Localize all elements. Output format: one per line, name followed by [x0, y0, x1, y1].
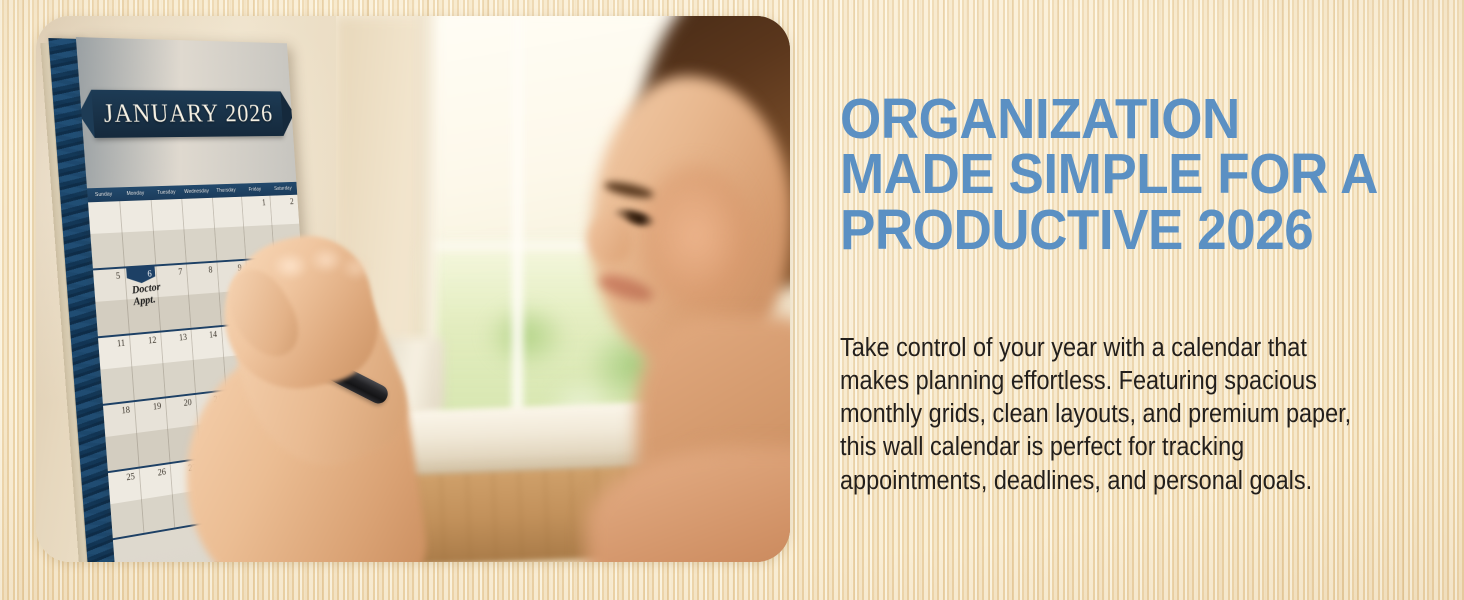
weekday-monday: Monday [119, 186, 151, 201]
calendar-day-cell: 18 [103, 402, 140, 471]
calendar-day-cell [120, 200, 156, 266]
day-number: 13 [179, 332, 188, 342]
calendar-day-cell: 7 [157, 264, 192, 330]
calendar-day-cell [88, 201, 125, 268]
day-number: 11 [117, 338, 126, 349]
calendar-day-cell: 25 [108, 468, 145, 538]
calendar-day-cell: 12 [130, 332, 166, 400]
headline-line-3: PRODUCTIVE 2026 [840, 203, 1398, 258]
weekday-tuesday: Tuesday [151, 185, 183, 200]
day-number: 14 [209, 329, 217, 339]
body-copy-block: Take control of your year with a calenda… [840, 332, 1460, 498]
calendar-day-cell: 19 [135, 398, 171, 466]
calendar-day-cell [183, 198, 217, 263]
day-number: 26 [157, 467, 166, 478]
body-line-4: this wall calendar is perfect for tracki… [840, 431, 1410, 464]
calendar-day-cell: 26 [140, 464, 176, 533]
day-number: 12 [148, 335, 157, 346]
month-title-banner: JANUARY 2026 [91, 90, 283, 138]
day-number: 2 [290, 197, 294, 206]
nose [588, 216, 632, 264]
day-number: 20 [183, 397, 192, 408]
knuckles [268, 244, 372, 310]
weekday-thursday: Thursday [211, 184, 241, 198]
product-photo: JANUARY 2026 Sunday Monday Tuesday Wedne… [36, 16, 790, 562]
weekday-sunday: Sunday [87, 187, 120, 202]
body-line-1: Take control of your year with a calenda… [840, 332, 1410, 365]
day-number: 25 [126, 471, 135, 482]
day-number: 6 [147, 269, 152, 279]
calendar-day-cell [152, 199, 187, 265]
day-number: 7 [178, 267, 183, 277]
headline-block: ORGANIZATION MADE SIMPLE FOR A PRODUCTIV… [840, 92, 1440, 258]
headline-line-1: ORGANIZATION [840, 92, 1398, 147]
calendar-day-cell: 13 [161, 330, 196, 397]
body-line-5: appointments, deadlines, and personal go… [840, 465, 1410, 498]
calendar-day-cell: 8 [187, 263, 221, 328]
body-line-3: monthly grids, clean layouts, and premiu… [840, 398, 1410, 431]
page-title: ORGANIZATION MADE SIMPLE FOR A PRODUCTIV… [840, 92, 1398, 258]
day-number: 19 [153, 401, 162, 412]
body-copy: Take control of your year with a calenda… [840, 332, 1410, 498]
month-title: JANUARY 2026 [102, 99, 273, 129]
calendar-day-cell: 5 [93, 268, 130, 336]
ad-banner: JANUARY 2026 Sunday Monday Tuesday Wedne… [0, 0, 1464, 600]
headline-line-2: MADE SIMPLE FOR A [840, 147, 1398, 202]
calendar-day-cell: 11 [98, 335, 135, 404]
weekday-wednesday: Wednesday [181, 184, 212, 198]
day-number: 1 [262, 198, 266, 207]
day-number: 8 [208, 265, 213, 275]
day-number: 5 [116, 271, 121, 281]
body-line-2: makes planning effortless. Featuring spa… [840, 365, 1410, 398]
calendar-day-cell [213, 197, 247, 261]
calendar-day-cell-highlighted: 6 Doctor Appt. [125, 266, 161, 333]
window-mullion-vertical [512, 16, 523, 446]
weekday-saturday: Saturday [269, 182, 298, 196]
weekday-friday: Friday [240, 183, 269, 197]
day-number: 18 [121, 405, 130, 416]
cheek [636, 146, 786, 336]
